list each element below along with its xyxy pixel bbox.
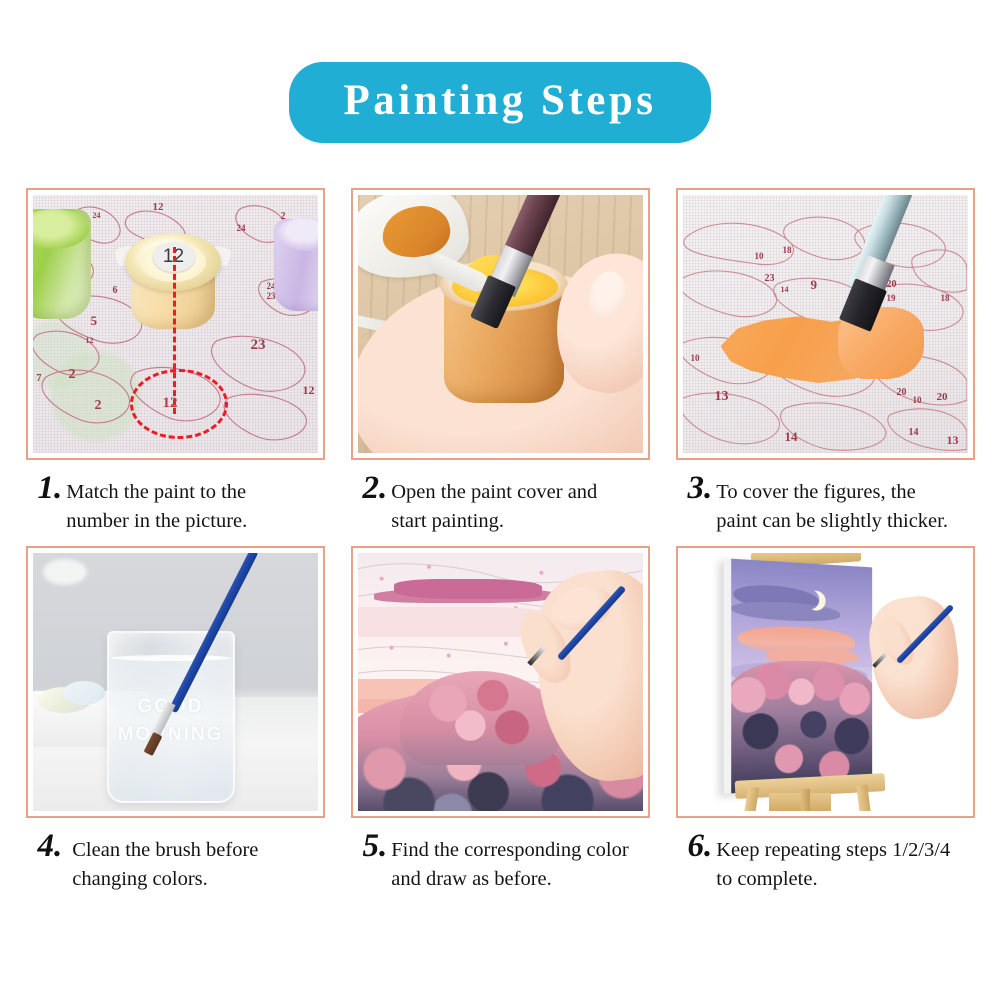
canvas-number: 12 [86, 336, 94, 345]
purple-paint-pot [274, 219, 318, 311]
finished-canvas [723, 558, 871, 794]
step-5-text: Find the corresponding color and draw as… [391, 830, 636, 894]
step-card-2: 2. Open the paint cover and start painti… [338, 188, 663, 546]
water-glass: GOOD MORNING [107, 631, 235, 803]
canvas-number: 5 [91, 313, 98, 329]
step-card-6: 6. Keep repeating steps 1/2/3/4 to compl… [663, 546, 988, 904]
easel-tray-block [769, 793, 831, 811]
canvas-number: 2 [95, 398, 102, 414]
canvas-number: 14 [781, 285, 789, 294]
step-6-text: Keep repeating steps 1/2/3/4 to complete… [716, 830, 961, 894]
cherry-blossom-field [724, 660, 871, 793]
step-5-caption: 5. Find the corresponding color and draw… [351, 818, 650, 904]
hand-painting-canvas-photo [358, 553, 643, 811]
steps-grid: 12 24 2 24 7 6 5 12 24 23 23 7 2 2 12 [0, 188, 1000, 904]
canvas-number: 6 [113, 285, 118, 296]
canvas-number: 10 [691, 353, 700, 363]
brush-stroke-on-canvas-photo: 10 18 23 14 9 20 19 18 10 20 13 14 20 10… [683, 195, 968, 453]
canvas-number: 12 [153, 201, 164, 213]
paint-pot-matching-number-photo: 12 24 2 24 7 6 5 12 24 23 23 7 2 2 12 [33, 195, 318, 453]
step-4-number: 4. [38, 830, 67, 863]
step-3-caption: 3. To cover the figures, the paint can b… [676, 460, 975, 546]
canvas-number: 20 [897, 387, 907, 398]
step-6-number: 6. [688, 830, 717, 863]
step-1-caption: 1. Match the paint to the number in the … [26, 460, 325, 546]
canvas-number: 18 [783, 245, 792, 255]
canvas-number: 14 [785, 429, 798, 445]
page-title: Painting Steps [343, 78, 656, 123]
blurred-background-object [43, 559, 87, 585]
water-line [111, 655, 231, 661]
step-6-caption: 6. Keep repeating steps 1/2/3/4 to compl… [676, 818, 975, 904]
step-card-4: GOOD MORNING 4. Clean the brush before c… [13, 546, 338, 904]
canvas-number: 9 [811, 277, 818, 293]
canvas-number: 20 [937, 391, 948, 403]
canvas-number: 24 [93, 211, 101, 220]
glass-of-water-with-brush-photo: GOOD MORNING [33, 553, 318, 811]
canvas-number: 18 [941, 293, 950, 303]
glass-text-line-2: MORNING [118, 724, 224, 745]
canvas-number: 13 [715, 389, 729, 405]
easel-leg-center [801, 789, 810, 811]
canvas-number: 10 [755, 251, 764, 261]
glass-printed-text: GOOD MORNING [109, 693, 233, 748]
step-card-5: 5. Find the corresponding color and draw… [338, 546, 663, 904]
finished-painting-on-easel-photo [683, 553, 968, 811]
step-5-photo-frame [351, 546, 650, 818]
canvas-number: 7 [37, 373, 42, 384]
canvas-number: 10 [913, 395, 922, 405]
step-1-text: Match the paint to the number in the pic… [66, 472, 311, 536]
step-2-photo-frame [351, 188, 650, 460]
open-paint-pot-photo [358, 195, 643, 453]
canvas-number: 13 [947, 433, 959, 448]
step-6-photo-frame [676, 546, 975, 818]
header: Painting Steps [0, 0, 1000, 143]
canvas-number: 12 [303, 383, 315, 398]
canvas-number: 14 [909, 427, 919, 438]
step-2-number: 2. [363, 472, 392, 505]
red-dashed-highlight-ellipse [130, 369, 228, 439]
green-paint-pot [33, 209, 91, 319]
canvas-number: 23 [251, 337, 266, 354]
step-4-photo-frame: GOOD MORNING [26, 546, 325, 818]
step-card-3: 10 18 23 14 9 20 19 18 10 20 13 14 20 10… [663, 188, 988, 546]
step-5-number: 5. [363, 830, 392, 863]
step-4-text: Clean the brush before changing colors. [66, 830, 317, 894]
step-card-1: 12 24 2 24 7 6 5 12 24 23 23 7 2 2 12 [13, 188, 338, 546]
step-4-caption: 4. Clean the brush before changing color… [26, 818, 325, 904]
step-1-number: 1. [38, 472, 67, 505]
step-3-photo-frame: 10 18 23 14 9 20 19 18 10 20 13 14 20 10… [676, 188, 975, 460]
step-2-caption: 2. Open the paint cover and start painti… [351, 460, 650, 546]
canvas-number: 19 [887, 293, 896, 303]
soap-bar-secondary [63, 681, 105, 705]
canvas-number: 24 [237, 223, 246, 233]
circled-canvas-number: 12 [163, 395, 178, 412]
step-3-text: To cover the figures, the paint can be s… [716, 472, 961, 536]
step-3-number: 3. [688, 472, 717, 505]
canvas-number: 2 [69, 367, 76, 383]
step-2-text: Open the paint cover and start painting. [391, 472, 636, 536]
title-banner: Painting Steps [289, 62, 710, 143]
dark-pink-cloud [394, 579, 542, 599]
canvas-number: 23 [765, 273, 775, 284]
step-1-photo-frame: 12 24 2 24 7 6 5 12 24 23 23 7 2 2 12 [26, 188, 325, 460]
